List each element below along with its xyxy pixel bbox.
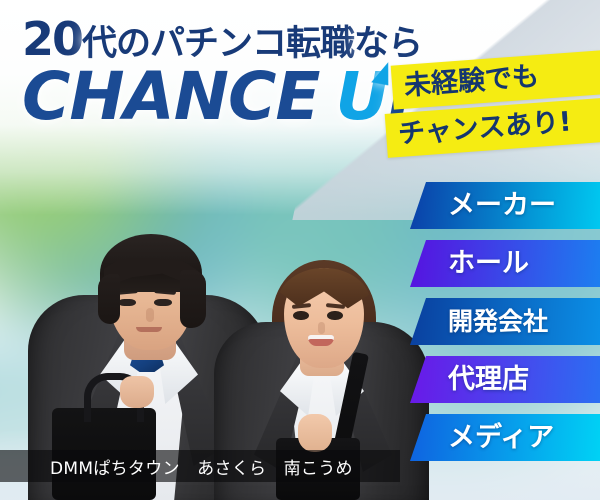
tag-development-company-label: 開発会社 — [448, 309, 548, 334]
male-hair-side-left — [98, 274, 120, 324]
female-mouth — [308, 335, 334, 346]
male-hand — [120, 376, 154, 408]
credit-bar: DMMぱちタウン あさくら 南こうめ — [0, 450, 400, 482]
tag-media-label: メディア — [448, 424, 554, 451]
recruitment-banner: 20代のパチンコ転職なら CHANCE UP 未経験でも チャンスあり! メーカ… — [0, 0, 600, 500]
experience-badge: 未経験でも チャンスあり! — [384, 58, 600, 150]
male-nose — [146, 308, 154, 322]
tag-maker[interactable]: メーカー — [410, 182, 600, 229]
tag-maker-label: メーカー — [448, 192, 556, 219]
tag-hall-label: ホール — [448, 250, 529, 277]
logo-word-chance: CHANCE — [22, 66, 320, 128]
tag-hall[interactable]: ホール — [410, 240, 600, 287]
tag-media[interactable]: メディア — [410, 414, 600, 461]
tag-agency-label: 代理店 — [448, 366, 529, 393]
male-hair-side-right — [180, 270, 206, 328]
headline-kicker: 20代のパチンコ転職なら — [22, 16, 442, 62]
male-eye-right — [154, 299, 172, 306]
female-hand — [298, 414, 332, 452]
female-nose — [318, 322, 325, 334]
tag-development-company[interactable]: 開発会社 — [410, 298, 600, 345]
male-eye-left — [118, 299, 136, 306]
job-category-list: メーカー ホール 開発会社 代理店 メディア — [410, 182, 600, 461]
female-eye-left — [293, 311, 309, 320]
headline-block: 20代のパチンコ転職なら CHANCE UP — [22, 16, 442, 128]
models-photo — [0, 140, 430, 500]
female-eye-right — [327, 311, 343, 320]
tag-agency[interactable]: 代理店 — [410, 356, 600, 403]
chance-up-logo: CHANCE UP — [22, 66, 442, 128]
male-mouth — [136, 327, 162, 332]
credit-text: DMMぱちタウン あさくら 南こうめ — [50, 454, 353, 479]
